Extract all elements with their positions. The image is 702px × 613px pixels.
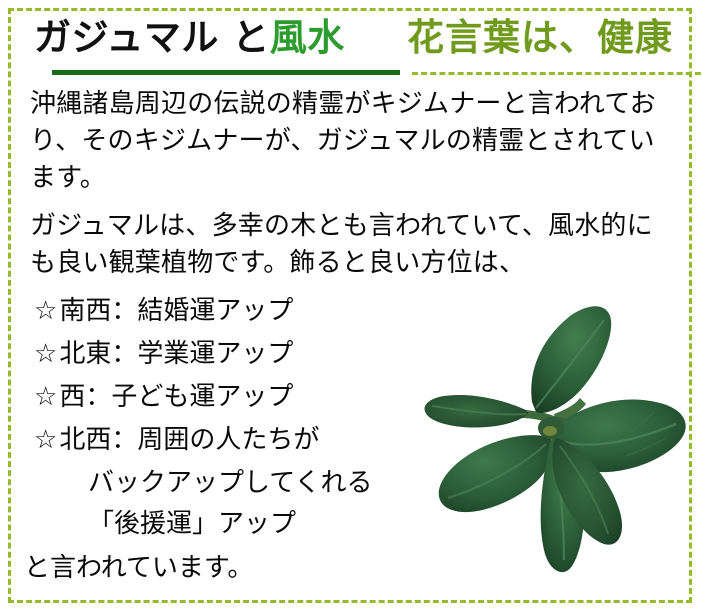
list-item-continuation: 「後援運」アップ (34, 511, 464, 537)
leaf-lower-left (439, 435, 552, 512)
title-dashed-underline (412, 72, 702, 75)
star-icon: ☆ (34, 425, 57, 455)
poster-content: ガジュマル と風水 花言葉は、健康 沖縄諸島周辺の伝説の精霊がキジムナーと言われ… (0, 0, 702, 613)
gajumaru-leaves-photo (404, 306, 690, 596)
poster-page: ガジュマル と風水 花言葉は、健康 沖縄諸島周辺の伝説の精霊がキジムナーと言われ… (0, 0, 702, 613)
list-item: ☆南西：結婚運アップ (34, 298, 464, 324)
star-icon: ☆ (34, 382, 57, 412)
paragraph-legend: 沖縄諸島周辺の伝説の精霊がキジムナーと言われており、そのキジムナーが、ガジュマル… (30, 86, 678, 197)
list-item-label: 北東：学業運アップ (59, 339, 293, 369)
title-solid-underline (52, 70, 400, 75)
leaf-upper-center (531, 306, 611, 413)
list-item-label: 西：子ども運アップ (59, 382, 293, 412)
title-row: ガジュマル と風水 花言葉は、健康 (26, 16, 680, 82)
paragraph-fengshui: ガジュマルは、多幸の木とも言われていて、風水的にも良い観葉植物です。飾ると良い方… (30, 208, 678, 282)
list-item: ☆北東：学業運アップ (34, 341, 464, 367)
page-title-right: 花言葉は、健康 (407, 18, 673, 59)
page-title-left: ガジュマル と風水 (34, 18, 345, 59)
star-icon: ☆ (34, 339, 57, 369)
list-item-continuation: バックアップしてくれる (34, 470, 464, 496)
fortune-direction-list: ☆南西：結婚運アップ ☆北東：学業運アップ ☆西：子ども運アップ ☆北西：周囲の… (34, 298, 464, 552)
title-left-black-part: ガジュマル と (34, 16, 270, 59)
list-item-label: 北西：周囲の人たちが (59, 425, 319, 455)
list-item-label: 南西：結婚運アップ (59, 296, 293, 326)
title-left-green-part: 風水 (270, 16, 345, 59)
list-item: ☆西：子ども運アップ (34, 384, 464, 410)
closing-text: と言われています。 (24, 555, 253, 581)
star-icon: ☆ (34, 296, 57, 326)
list-item: ☆北西：周囲の人たちが (34, 427, 464, 453)
